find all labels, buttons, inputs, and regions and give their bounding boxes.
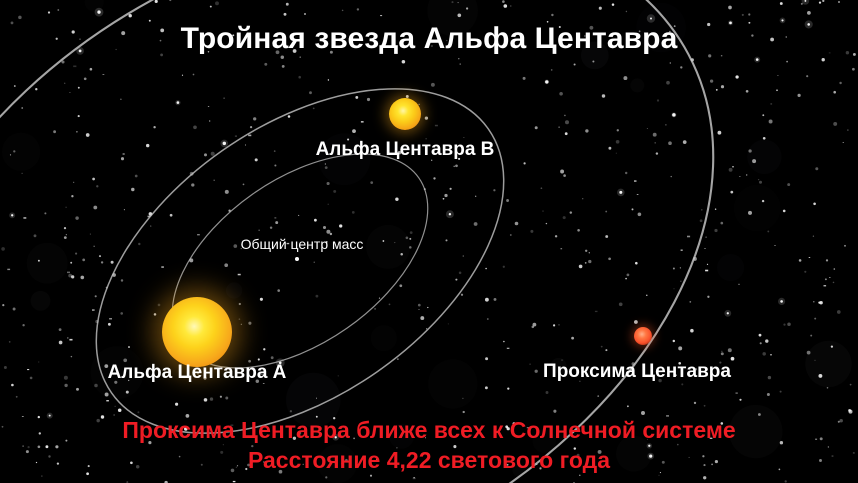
label-alpha-centauri-b: Альфа Центавра B — [316, 139, 495, 161]
label-proxima-centauri: Проксима Центавра — [543, 361, 731, 383]
page-title: Тройная звезда Альфа Центавра — [181, 22, 678, 56]
label-barycenter: Общий центр масс — [241, 236, 364, 252]
star-proxima-centauri — [634, 327, 652, 345]
caption-line-2: Расстояние 4,22 светового года — [248, 447, 610, 474]
star-alpha-centauri-a — [162, 297, 232, 367]
label-alpha-centauri-a: Альфа Центавра A — [108, 362, 287, 384]
proxima-orbit-path — [0, 0, 829, 483]
orbit-paths-layer — [0, 0, 858, 483]
caption-line-1: Проксима Центавра ближе всех к Солнечной… — [122, 417, 735, 444]
barycenter-dot — [295, 257, 299, 261]
diagram-canvas: Тройная звезда Альфа Центавра Альфа Цент… — [0, 0, 858, 483]
star-alpha-centauri-b — [389, 98, 421, 130]
